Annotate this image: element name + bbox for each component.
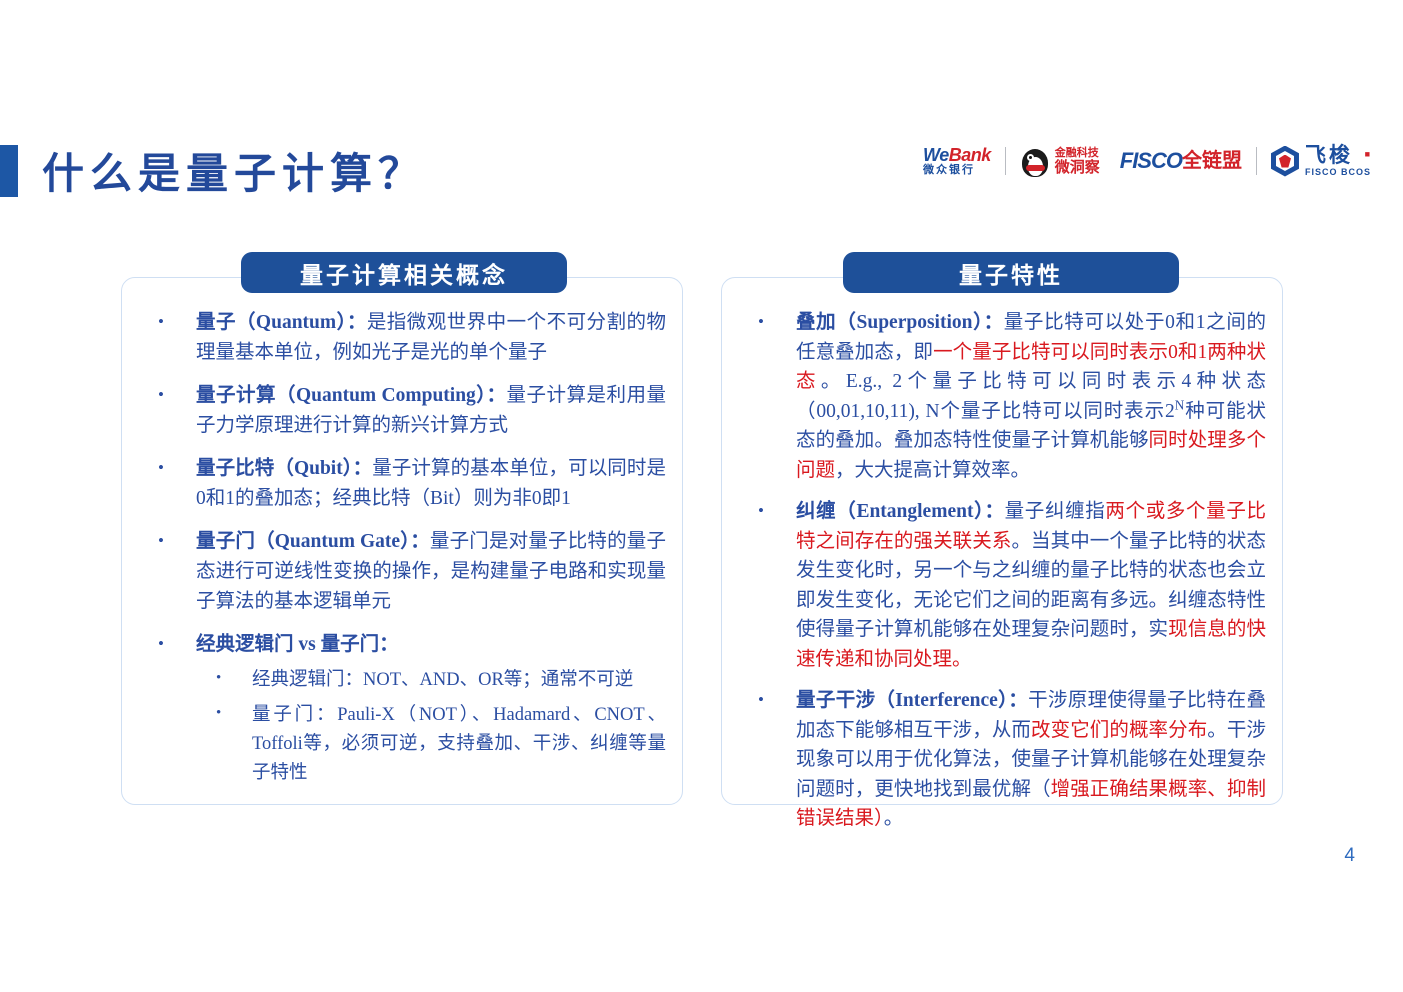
card-banner-properties: 量子特性 (843, 252, 1179, 293)
fisco-logo-cn: 全链盟 (1182, 150, 1242, 172)
fisco-logo-en: FISCO (1120, 150, 1182, 172)
bullet-item: 纠缠（Entanglement）：量子纠缠指两个或多个量子比特之间存在的强关联关… (736, 497, 1266, 674)
card-banner-concepts: 量子计算相关概念 (241, 252, 567, 293)
sub-bullet-list: 经典逻辑门：NOT、AND、OR等；通常不可逆量子门：Pauli-X（NOT）、… (196, 666, 666, 788)
bullet-item: 量子门（Quantum Gate）：量子门是对量子比特的量子态进行可逆线性变换的… (136, 527, 666, 617)
fisco-logo: FISCO 全链盟 (1110, 138, 1252, 184)
logo-divider-1 (1005, 147, 1006, 175)
bullet-item: 叠加（Superposition）：量子比特可以处于0和1之间的任意叠加态，即一… (736, 308, 1266, 485)
weidongcha-line1: 金融科技 (1055, 147, 1100, 160)
fisco-bcos-cn: 飞梭■ (1305, 145, 1371, 167)
page-title: 什么是量子计算？ (42, 140, 426, 201)
bullet-item: 量子（Quantum）：是指微观世界中一个不可分割的物理量基本单位，例如光子是光… (136, 308, 666, 368)
bullet-item: 经典逻辑门 vs 量子门：经典逻辑门：NOT、AND、OR等；通常不可逆量子门：… (136, 630, 666, 788)
bullet-term: 量子（Quantum）： (196, 312, 367, 333)
card-body-concepts: 量子（Quantum）：是指微观世界中一个不可分割的物理量基本单位，例如光子是光… (122, 308, 682, 801)
bullet-list-concepts: 量子（Quantum）：是指微观世界中一个不可分割的物理量基本单位，例如光子是光… (136, 308, 666, 788)
bullet-term: 纠缠（Entanglement）： (796, 501, 1005, 522)
weidongcha-logo: 金融科技 微洞察 (1010, 138, 1110, 184)
bullet-text: 。 (884, 808, 904, 829)
bullet-text: N (1175, 397, 1185, 412)
penguin-mascot-icon (1020, 145, 1050, 177)
fisco-bcos-logo: 飞梭■ FISCO BCOS (1261, 138, 1381, 184)
bullet-term: 量子门（Quantum Gate）： (196, 531, 430, 552)
webank-logo-bank: Bank (949, 145, 991, 165)
bullet-term: 叠加（Superposition）： (796, 312, 1004, 333)
sub-bullet-item: 经典逻辑门：NOT、AND、OR等；通常不可逆 (196, 666, 666, 695)
bullet-text: 量子纠缠指 (1005, 501, 1106, 522)
bullet-list-properties: 叠加（Superposition）：量子比特可以处于0和1之间的任意叠加态，即一… (736, 308, 1266, 834)
card-body-properties: 叠加（Superposition）：量子比特可以处于0和1之间的任意叠加态，即一… (722, 308, 1282, 846)
page-number: 4 (1344, 845, 1355, 867)
hexagon-icon (1271, 146, 1299, 177)
bullet-term: 量子比特（Qubit）： (196, 458, 372, 479)
title-accent-bar (0, 145, 18, 197)
bullet-item: 量子比特（Qubit）：量子计算的基本单位，可以同时是0和1的叠加态；经典比特（… (136, 454, 666, 514)
sub-bullet-item: 量子门：Pauli-X（NOT）、Hadamard、CNOT、Toffoli等，… (196, 701, 666, 788)
card-quantum-properties: 量子特性 叠加（Superposition）：量子比特可以处于0和1之间的任意叠… (721, 277, 1283, 805)
weidongcha-line2: 微洞察 (1055, 160, 1100, 176)
bullet-text: ，大大提高计算效率。 (835, 460, 1030, 481)
bullet-item: 量子计算（Quantum Computing）：量子计算是利用量子力学原理进行计… (136, 381, 666, 441)
logo-divider-2 (1256, 147, 1257, 175)
webank-logo-en: WeBank (923, 146, 991, 164)
bullet-term: 经典逻辑门 vs 量子门： (196, 634, 399, 655)
highlighted-text: 改变它们的概率分布 (1031, 720, 1207, 741)
bullet-term: 量子干涉（Interference）： (796, 690, 1028, 711)
weidongcha-logo-text: 金融科技 微洞察 (1055, 147, 1100, 176)
fisco-bcos-en: FISCO BCOS (1305, 167, 1371, 178)
webank-logo: WeBank 微众银行 (913, 138, 1001, 184)
bullet-item: 量子干涉（Interference）：干涉原理使得量子比特在叠加态下能够相互干涉… (736, 686, 1266, 834)
fisco-bcos-text: 飞梭■ FISCO BCOS (1305, 145, 1371, 178)
webank-logo-cn: 微众银行 (923, 164, 975, 177)
logo-strip: WeBank 微众银行 金融科技 微洞察 FISCO 全链盟 飞梭■ FISCO… (913, 138, 1381, 184)
bullet-term: 量子计算（Quantum Computing）： (196, 385, 507, 406)
webank-logo-we: We (923, 145, 949, 165)
card-quantum-concepts: 量子计算相关概念 量子（Quantum）：是指微观世界中一个不可分割的物理量基本… (121, 277, 683, 805)
